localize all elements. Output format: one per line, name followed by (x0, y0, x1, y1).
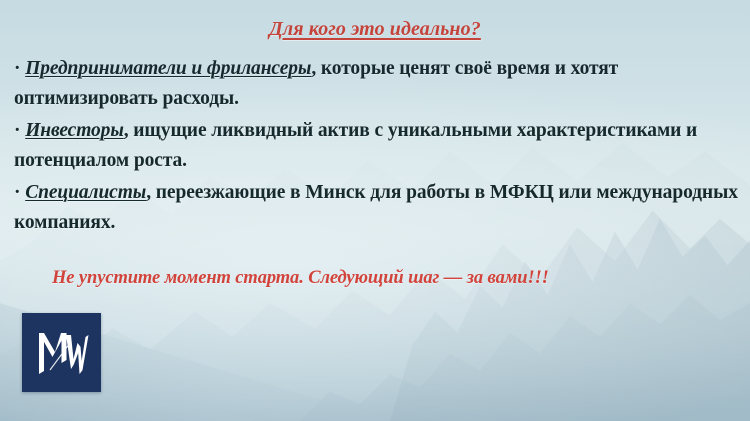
bullet-item: · Специалисты, переезжающие в Минск для … (14, 178, 740, 238)
mw-monogram-icon (22, 313, 101, 392)
slide-canvas: Для кого это идеально? · Предприниматели… (0, 0, 750, 421)
brand-logo (22, 313, 101, 392)
bullet-marker-icon: · (14, 182, 20, 203)
slide-title: Для кого это идеально? (0, 18, 750, 41)
bullet-item: · Предприниматели и фрилансеры, которые … (14, 54, 740, 114)
bullet-list: · Предприниматели и фрилансеры, которые … (14, 54, 740, 238)
slide-content: Для кого это идеально? · Предприниматели… (0, 0, 750, 421)
call-to-action-text: Не упустите момент старта. Следующий шаг… (52, 268, 732, 289)
bullet-lead-text: Инвесторы (25, 120, 124, 141)
bullet-lead-text: Предприниматели и фрилансеры (25, 58, 311, 79)
bullet-item: · Инвесторы, ищущие ликвидный актив с ун… (14, 116, 740, 176)
bullet-marker-icon: · (14, 120, 20, 141)
bullet-lead-text: Специалисты (25, 182, 146, 203)
bullet-marker-icon: · (14, 58, 20, 79)
